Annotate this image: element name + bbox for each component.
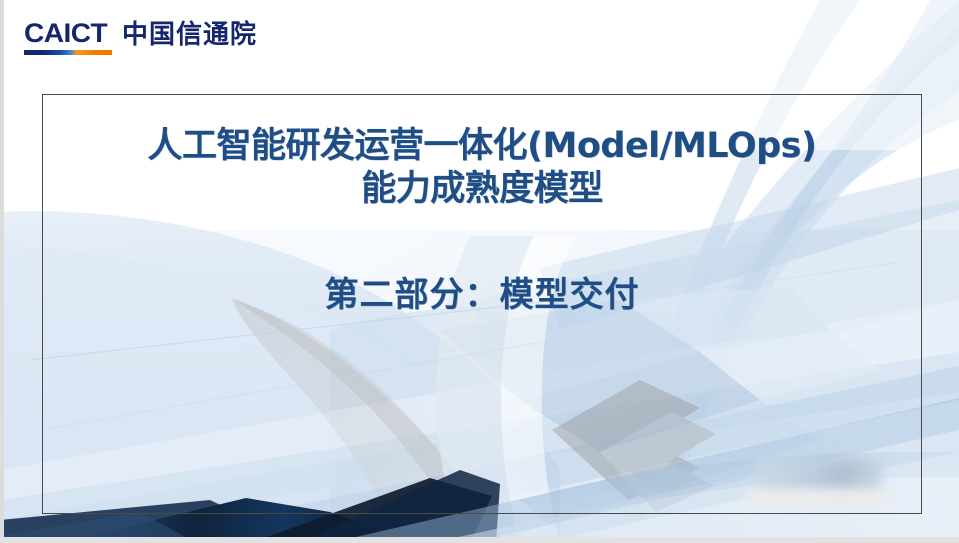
title-line-2: 能力成熟度模型 [42,168,922,211]
logo-wordmark: CAICT [24,20,116,47]
logo-underline-icon [24,50,112,55]
logo-chinese-name: 中国信通院 [122,22,257,55]
presentation-slide: CAICT 中国信通院 人工智能研发运营一体化(Model/MLOps) 能力成… [0,0,959,543]
logo-mark: CAICT [24,20,112,55]
caict-logo: CAICT 中国信通院 [24,20,257,55]
title-line-1: 人工智能研发运营一体化(Model/MLOps) [42,125,922,168]
slide-subtitle: 第二部分：模型交付 [42,267,922,316]
page-gutter-left [0,0,4,543]
blurred-panel-shadow [746,489,892,505]
slide-title: 人工智能研发运营一体化(Model/MLOps) 能力成熟度模型 [42,125,922,210]
page-gutter-bottom [0,537,959,543]
